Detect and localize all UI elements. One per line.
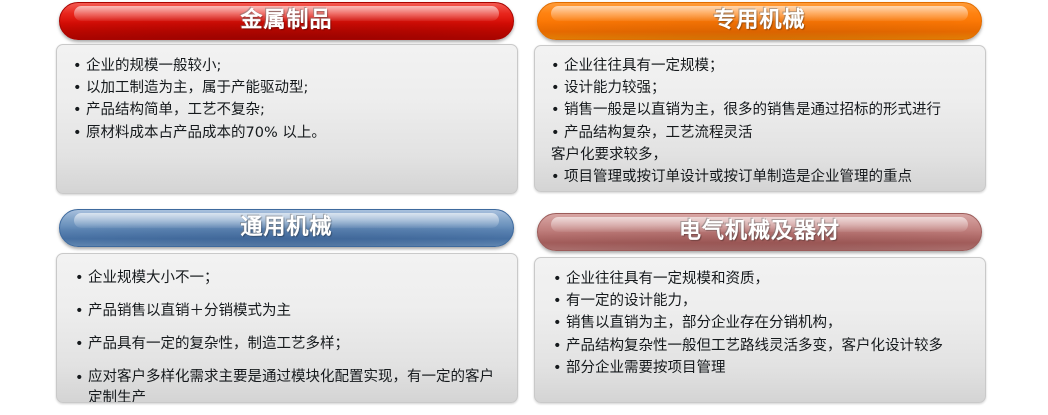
list-item: 企业的规模一般较小;: [73, 55, 509, 77]
panel-title-electrical-machinery-equipment: 电气机械及器材: [679, 221, 840, 243]
panel-title-general-machinery: 通用机械: [240, 217, 332, 239]
panel-header-electrical-machinery-equipment[interactable]: 电气机械及器材: [537, 213, 982, 251]
panel-header-metal-products[interactable]: 金属制品: [59, 2, 514, 40]
list-item: 原材料成本占产品成本的70% 以上。: [73, 122, 509, 144]
bullet-list-metal-products: 企业的规模一般较小; 以加工制造为主，属于产能驱动型; 产品结构简单，工艺不复杂…: [73, 55, 509, 144]
panel-body-general-machinery: 企业规模大小不一； 产品销售以直销＋分销模式为主 产品具有一定的复杂性，制造工艺…: [56, 253, 518, 403]
list-item: 企业规模大小不一；: [75, 267, 503, 289]
list-item: 产品结构复杂性一般但工艺路线灵活多变，客户化设计较多: [553, 335, 981, 357]
list-item: 产品结构复杂，工艺流程灵活: [551, 122, 981, 144]
list-item: 产品销售以直销＋分销模式为主: [75, 300, 503, 322]
bullet-list-electrical-machinery-equipment: 企业往往具有一定规模和资质， 有一定的设计能力， 销售以直销为主，部分企业存在分…: [553, 268, 981, 379]
list-item: 有一定的设计能力，: [553, 290, 981, 312]
list-item: 设计能力较强；: [551, 77, 981, 99]
list-item: 企业往往具有一定规模；: [551, 55, 981, 77]
list-item: 产品结构简单，工艺不复杂;: [73, 99, 509, 121]
panel-body-metal-products: 企业的规模一般较小; 以加工制造为主，属于产能驱动型; 产品结构简单，工艺不复杂…: [56, 44, 518, 194]
list-item: 产品具有一定的复杂性，制造工艺多样；: [75, 333, 503, 355]
list-item: 项目管理或按订单设计或按订单制造是企业管理的重点: [551, 166, 981, 188]
bullet-list-special-machinery: 企业往往具有一定规模； 设计能力较强； 销售一般是以直销为主，很多的销售是通过招…: [551, 55, 981, 188]
panel-header-special-machinery[interactable]: 专用机械: [537, 2, 982, 40]
list-item: 应对客户多样化需求主要是通过模块化配置实现，有一定的客户定制生产: [75, 367, 503, 403]
panel-header-general-machinery[interactable]: 通用机械: [59, 209, 514, 247]
panel-body-electrical-machinery-equipment: 企业往往具有一定规模和资质， 有一定的设计能力， 销售以直销为主，部分企业存在分…: [534, 257, 986, 403]
list-item: 企业往往具有一定规模和资质，: [553, 268, 981, 290]
quadrant-board: 金属制品 企业的规模一般较小; 以加工制造为主，属于产能驱动型; 产品结构简单，…: [0, 0, 1048, 415]
list-item: 销售以直销为主，部分企业存在分销机构，: [553, 312, 981, 334]
list-item: 部分企业需要按项目管理: [553, 357, 981, 379]
panel-body-special-machinery: 企业往往具有一定规模； 设计能力较强； 销售一般是以直销为主，很多的销售是通过招…: [534, 45, 986, 192]
panel-title-special-machinery: 专用机械: [713, 10, 805, 32]
list-item: 客户化要求较多，: [551, 144, 981, 166]
panel-title-metal-products: 金属制品: [240, 10, 332, 32]
list-item: 销售一般是以直销为主，很多的销售是通过招标的形式进行: [551, 99, 981, 121]
list-item: 以加工制造为主，属于产能驱动型;: [73, 77, 509, 99]
bullet-list-general-machinery: 企业规模大小不一； 产品销售以直销＋分销模式为主 产品具有一定的复杂性，制造工艺…: [75, 267, 503, 403]
